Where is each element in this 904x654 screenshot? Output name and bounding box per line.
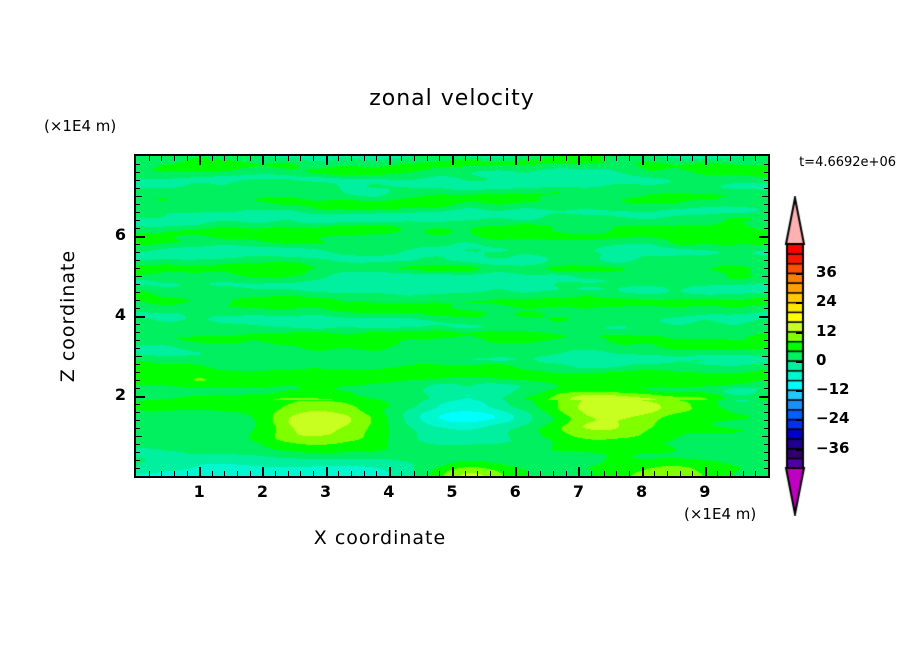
axis-tick [566, 471, 567, 476]
axis-tick [616, 156, 617, 161]
axis-tick [452, 156, 454, 165]
y-tick-label: 4 [96, 305, 126, 324]
axis-tick [174, 156, 175, 161]
time-annotation: t=4.6692e+06 [799, 155, 896, 170]
axis-tick [136, 452, 140, 453]
axis-tick [136, 268, 140, 269]
axis-tick [764, 348, 768, 349]
axis-tick [759, 236, 768, 238]
axis-tick [300, 471, 301, 476]
axis-tick [187, 471, 188, 476]
axis-tick [764, 268, 768, 269]
axis-tick [764, 220, 768, 221]
axis-tick [642, 156, 644, 165]
axis-tick [351, 156, 352, 161]
axis-tick [629, 471, 630, 476]
axis-tick [136, 380, 140, 381]
axis-tick [759, 316, 768, 318]
contour-plot-area[interactable] [134, 154, 770, 478]
colorbar-tick-label: 0 [816, 351, 826, 369]
axis-tick [136, 404, 140, 405]
axis-tick [764, 324, 768, 325]
axis-tick [262, 467, 264, 476]
axis-tick [591, 471, 592, 476]
axis-tick [161, 471, 162, 476]
axis-tick [187, 156, 188, 161]
axis-tick [136, 460, 140, 461]
axis-tick [553, 471, 554, 476]
axis-tick [136, 284, 140, 285]
x-tick-label: 8 [627, 482, 657, 501]
axis-tick [364, 471, 365, 476]
axis-tick [566, 156, 567, 161]
x-tick-label: 3 [311, 482, 341, 501]
axis-tick [759, 396, 768, 398]
axis-tick [692, 471, 693, 476]
axis-tick [515, 156, 517, 165]
axis-tick [764, 460, 768, 461]
axis-tick [136, 220, 140, 221]
axis-tick [250, 156, 251, 161]
axis-tick [477, 471, 478, 476]
axis-tick [764, 300, 768, 301]
axis-tick [414, 471, 415, 476]
axis-tick [300, 156, 301, 161]
axis-tick [764, 340, 768, 341]
axis-tick [764, 244, 768, 245]
axis-tick [136, 228, 140, 229]
colorbar-tick [796, 332, 802, 334]
axis-tick [642, 467, 644, 476]
axis-tick [764, 260, 768, 261]
axis-tick [490, 471, 491, 476]
axis-tick [604, 156, 605, 161]
axis-tick [578, 156, 580, 165]
axis-tick [764, 428, 768, 429]
axis-tick [136, 164, 140, 165]
colorbar-tick-label: −36 [816, 439, 849, 457]
axis-tick [762, 196, 768, 197]
axis-tick [401, 156, 402, 161]
axis-tick [136, 300, 140, 301]
axis-tick [262, 156, 264, 165]
axis-tick [237, 471, 238, 476]
axis-tick [136, 316, 145, 318]
axis-tick [465, 156, 466, 161]
axis-tick [680, 156, 681, 161]
axis-tick [764, 332, 768, 333]
axis-tick [717, 156, 718, 161]
x-tick-label: 9 [690, 482, 720, 501]
colorbar-gradient [778, 196, 812, 516]
axis-tick [427, 156, 428, 161]
axis-tick [136, 180, 140, 181]
colorbar-tick-label: 12 [816, 322, 837, 340]
axis-tick [528, 156, 529, 161]
y-tick-label: 6 [96, 225, 126, 244]
axis-tick [275, 156, 276, 161]
axis-tick [503, 156, 504, 161]
colorbar-tick [796, 419, 802, 421]
axis-tick [136, 236, 145, 238]
x-tick-label: 7 [563, 482, 593, 501]
axis-tick [439, 156, 440, 161]
axis-tick [136, 356, 142, 357]
axis-tick [764, 252, 768, 253]
axis-tick [764, 364, 768, 365]
axis-tick [705, 156, 707, 165]
x-axis-title: X coordinate [0, 527, 760, 549]
axis-tick [764, 444, 768, 445]
axis-tick [717, 471, 718, 476]
axis-tick [136, 332, 140, 333]
axis-tick [764, 308, 768, 309]
axis-tick [224, 156, 225, 161]
axis-tick [755, 156, 756, 161]
axis-tick [762, 276, 768, 277]
axis-tick [764, 228, 768, 229]
axis-tick [136, 444, 140, 445]
axis-tick [730, 156, 731, 161]
x-tick-label: 2 [247, 482, 277, 501]
axis-tick [764, 212, 768, 213]
axis-tick [604, 471, 605, 476]
y-axis-title: Z coordinate [57, 186, 79, 446]
axis-tick [136, 188, 140, 189]
axis-tick [764, 380, 768, 381]
axis-tick [439, 471, 440, 476]
axis-tick [401, 471, 402, 476]
axis-tick [503, 471, 504, 476]
colorbar-tick-label: 24 [816, 292, 837, 310]
axis-tick [136, 348, 140, 349]
axis-tick [540, 156, 541, 161]
y-tick-label: 2 [96, 385, 126, 404]
axis-tick [654, 471, 655, 476]
axis-tick [136, 172, 140, 173]
axis-tick [351, 471, 352, 476]
axis-tick [313, 471, 314, 476]
axis-tick [764, 284, 768, 285]
axis-tick [528, 471, 529, 476]
axis-tick [136, 244, 140, 245]
colorbar[interactable] [778, 196, 812, 516]
axis-tick [764, 372, 768, 373]
axis-tick [136, 428, 140, 429]
axis-tick [288, 156, 289, 161]
colorbar-tick [796, 390, 802, 392]
axis-tick [313, 156, 314, 161]
axis-tick [764, 420, 768, 421]
axis-tick [326, 467, 328, 476]
axis-tick [136, 372, 140, 373]
x-tick-label: 1 [184, 482, 214, 501]
axis-tick [136, 412, 140, 413]
axis-tick [764, 412, 768, 413]
axis-tick [755, 471, 756, 476]
axis-tick [326, 156, 328, 165]
axis-tick [680, 471, 681, 476]
axis-tick [764, 172, 768, 173]
axis-tick [136, 364, 140, 365]
axis-tick [427, 471, 428, 476]
axis-tick [376, 471, 377, 476]
colorbar-tick [796, 361, 802, 363]
axis-tick [212, 471, 213, 476]
axis-tick [250, 471, 251, 476]
axis-tick [237, 156, 238, 161]
axis-tick [764, 388, 768, 389]
page-title: zonal velocity [0, 86, 904, 111]
axis-tick [553, 156, 554, 161]
x-axis-unit-label: (×1E4 m) [684, 505, 756, 523]
axis-tick [275, 471, 276, 476]
colorbar-tick-label: −24 [816, 409, 849, 427]
axis-tick [764, 164, 768, 165]
axis-tick [136, 212, 140, 213]
axis-tick [452, 467, 454, 476]
axis-tick [136, 260, 140, 261]
axis-tick [730, 471, 731, 476]
axis-tick [199, 156, 201, 165]
colorbar-tick-label: 36 [816, 263, 837, 281]
axis-tick [764, 204, 768, 205]
axis-tick [764, 452, 768, 453]
axis-tick [692, 156, 693, 161]
axis-tick [654, 156, 655, 161]
axis-tick [136, 340, 140, 341]
axis-tick [199, 467, 201, 476]
axis-tick [149, 156, 150, 161]
axis-tick [465, 471, 466, 476]
axis-tick [764, 180, 768, 181]
axis-tick [477, 156, 478, 161]
axis-tick [136, 204, 140, 205]
axis-tick [149, 471, 150, 476]
colorbar-tick [796, 302, 802, 304]
axis-tick [578, 467, 580, 476]
axis-tick [389, 467, 391, 476]
axis-tick [338, 156, 339, 161]
axis-tick [762, 436, 768, 437]
axis-tick [389, 156, 391, 165]
axis-tick [136, 324, 140, 325]
axis-tick [743, 156, 744, 161]
axis-tick [136, 196, 142, 197]
axis-tick [136, 276, 142, 277]
contour-field-canvas [136, 156, 768, 476]
axis-tick [136, 436, 142, 437]
axis-tick [414, 156, 415, 161]
colorbar-tick-label: −12 [816, 380, 849, 398]
colorbar-tick [796, 449, 802, 451]
axis-tick [161, 156, 162, 161]
axis-tick [515, 467, 517, 476]
axis-tick [540, 471, 541, 476]
axis-tick [591, 156, 592, 161]
axis-tick [338, 471, 339, 476]
axis-tick [364, 156, 365, 161]
axis-tick [629, 156, 630, 161]
axis-tick [616, 471, 617, 476]
axis-tick [764, 188, 768, 189]
axis-tick [136, 252, 140, 253]
axis-tick [764, 292, 768, 293]
axis-tick [376, 156, 377, 161]
axis-tick [136, 388, 140, 389]
y-axis-unit-label: (×1E4 m) [44, 117, 116, 135]
x-tick-label: 5 [437, 482, 467, 501]
axis-tick [667, 156, 668, 161]
axis-tick [764, 468, 768, 469]
axis-tick [224, 471, 225, 476]
axis-tick [288, 471, 289, 476]
x-tick-label: 4 [374, 482, 404, 501]
axis-tick [136, 420, 140, 421]
axis-tick [212, 156, 213, 161]
x-tick-label: 6 [500, 482, 530, 501]
axis-tick [762, 356, 768, 357]
axis-tick [705, 467, 707, 476]
axis-tick [136, 308, 140, 309]
axis-tick [136, 292, 140, 293]
axis-tick [490, 156, 491, 161]
axis-tick [174, 471, 175, 476]
axis-tick [764, 404, 768, 405]
axis-tick [667, 471, 668, 476]
axis-tick [136, 396, 145, 398]
axis-tick [136, 468, 140, 469]
colorbar-tick [796, 273, 802, 275]
axis-tick [743, 471, 744, 476]
